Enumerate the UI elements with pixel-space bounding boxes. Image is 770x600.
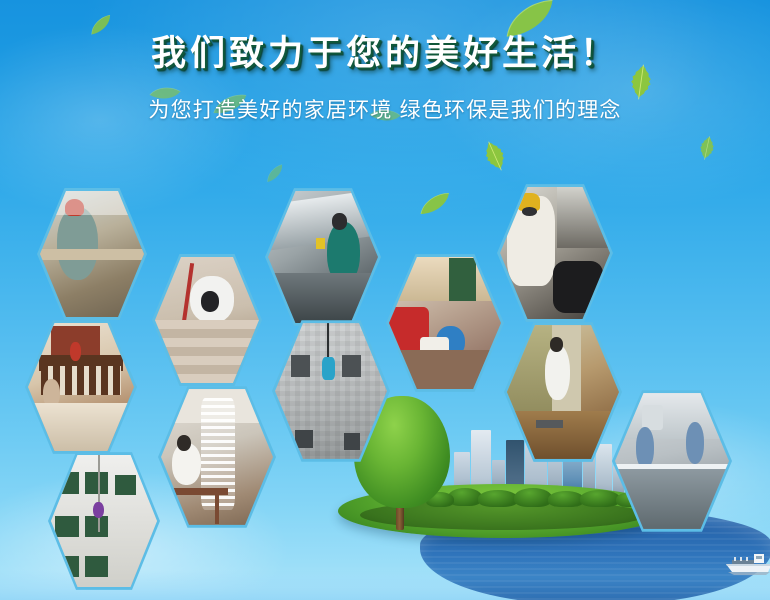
leaf-icon-8	[416, 192, 453, 217]
leaf-icon-10	[263, 163, 288, 184]
page-title: 我们致力于您的美好生活！	[0, 34, 770, 73]
handrail-refinishing-image	[28, 321, 134, 453]
hexagon-photo-inner	[51, 453, 157, 589]
building-exterior-washing-image	[51, 453, 157, 589]
hexagon-photo-inner	[500, 185, 610, 321]
banner-stage: 我们致力于您的美好生活！ 为您打造美好的家居环境 绿色环保是我们的理念	[0, 0, 770, 600]
carpet-machine-cleaning-image	[389, 255, 501, 391]
hexagon-photo-4[interactable]	[386, 252, 504, 394]
hexagon-photo-inner	[161, 387, 273, 527]
hexagon-photo-9[interactable]	[158, 384, 276, 530]
hexagon-photo-inner	[389, 255, 501, 391]
hexagon-photo-inner	[40, 189, 144, 319]
worker-tiling-counter-image	[40, 189, 144, 319]
chandelier-cleaning-image	[161, 387, 273, 527]
duct-cleaning-image	[268, 189, 378, 325]
kitchen-hood-degreasing-image	[500, 185, 610, 321]
hexagon-photo-3[interactable]	[265, 186, 381, 328]
leaf-icon-9	[688, 118, 725, 178]
boat-icon	[718, 552, 770, 578]
leaf-icon-7	[465, 116, 525, 196]
hexagon-photo-inner	[28, 321, 134, 453]
staircase-mopping-image	[155, 255, 259, 385]
hexagon-photo-inner	[268, 189, 378, 325]
hexagon-photo-6[interactable]	[25, 318, 137, 456]
hexagon-photo-1[interactable]	[37, 186, 147, 322]
hexagon-photo-inner	[155, 255, 259, 385]
page-subtitle: 为您打造美好的家居环境 绿色环保是我们的理念	[0, 94, 770, 124]
headline-container: 我们致力于您的美好生活！	[0, 34, 770, 73]
hexagon-photo-2[interactable]	[152, 252, 262, 388]
hexagon-photo-5[interactable]	[497, 182, 613, 324]
subheadline-container: 为您打造美好的家居环境 绿色环保是我们的理念	[0, 94, 770, 124]
